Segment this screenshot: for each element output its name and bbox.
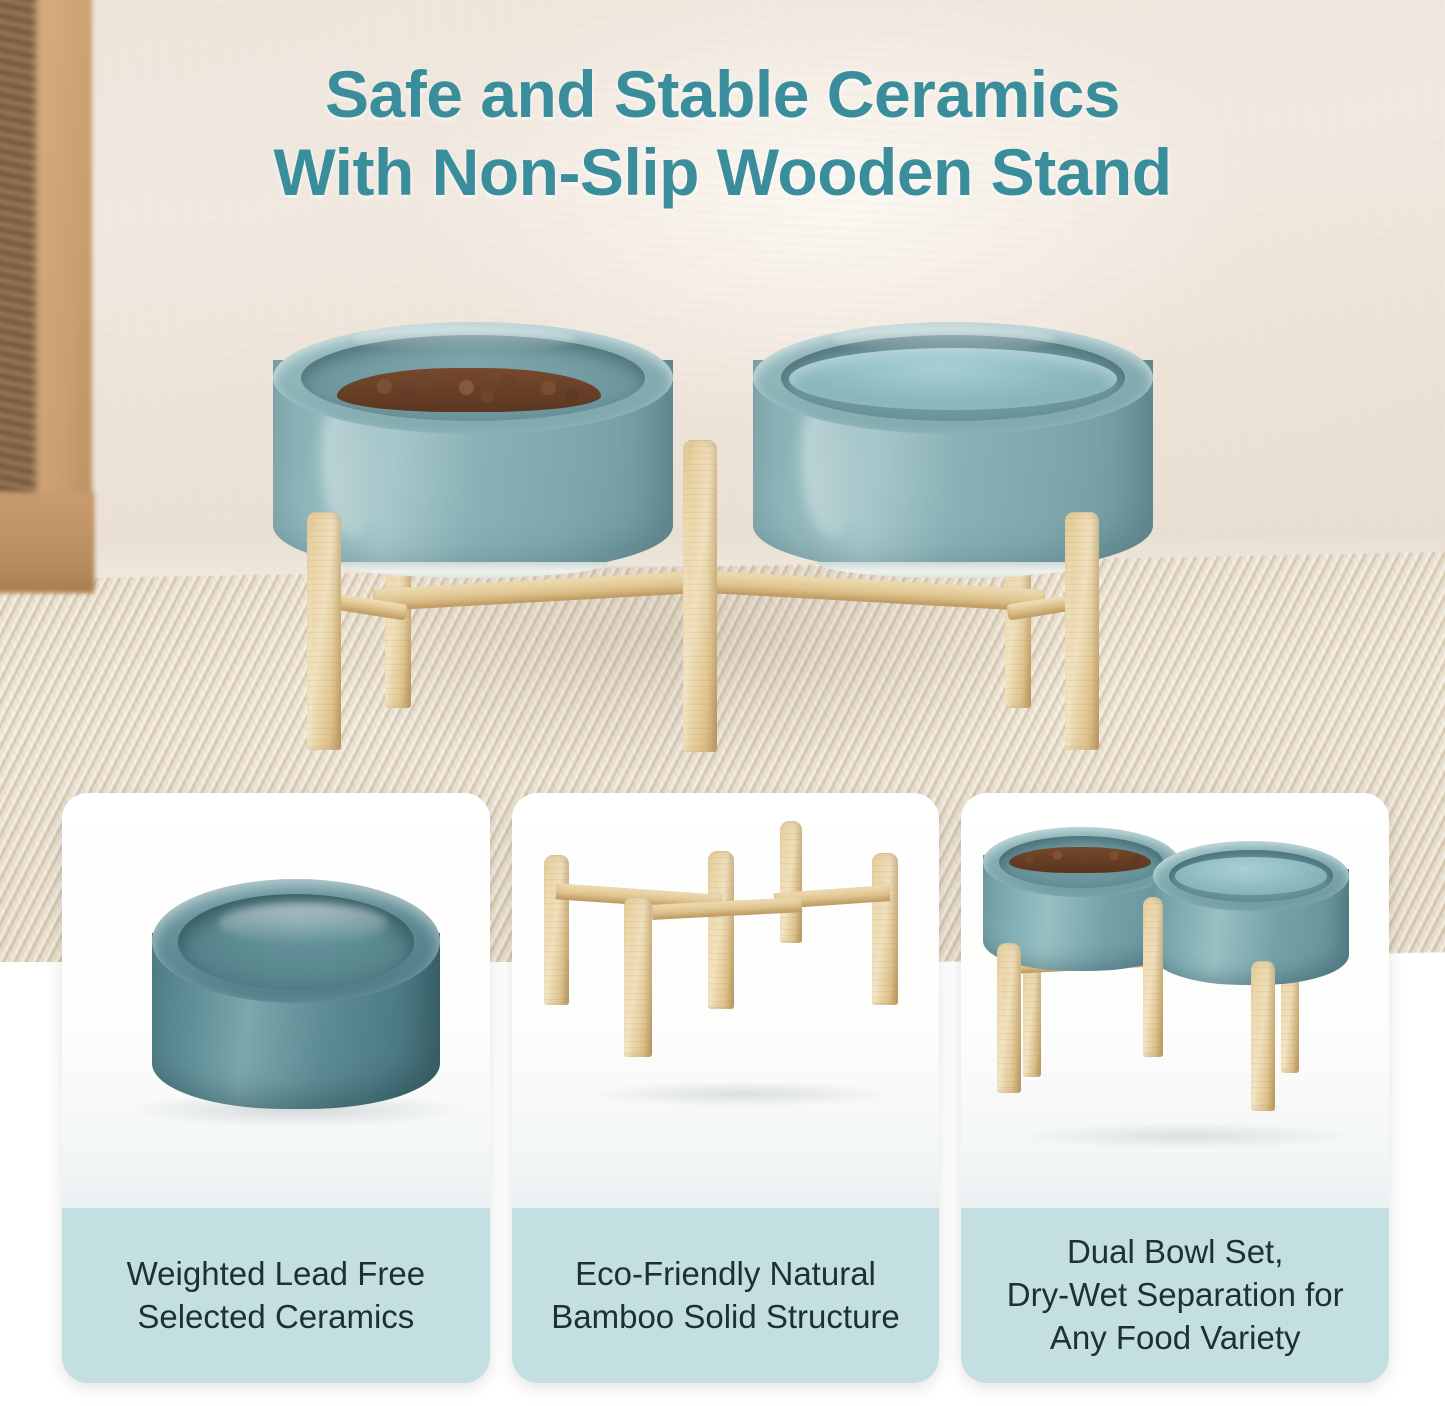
headline: Safe and Stable Ceramics With Non-Slip W… [0,56,1445,212]
bowl-water-foot [817,562,1089,578]
card3-water-surface [1175,857,1327,895]
card2-leg-front [624,897,652,1057]
card-ceramics-caption: Weighted Lead Free Selected Ceramics [62,1208,490,1383]
bowl-water-rim [753,322,1153,434]
card-bamboo-caption: Eco-Friendly Natural Bamboo Solid Struct… [512,1208,940,1383]
stand-drop-shadow [592,1081,892,1107]
card3-bowl-water-rim [1153,841,1349,911]
single-ceramic-bowl [152,879,440,1123]
dual-set-drop-shadow [1021,1123,1351,1149]
feature-card-bamboo[interactable]: Eco-Friendly Natural Bamboo Solid Struct… [512,793,940,1383]
bowl-food-foot [337,562,609,578]
kibble-pile [337,368,601,412]
card3-leg-back-left [1023,965,1041,1077]
dual-bowl-set-illustration [961,793,1389,1208]
card3-leg-front-right [1251,961,1275,1111]
feature-card-dual-bowl[interactable]: Dual Bowl Set, Dry-Wet Separation for An… [961,793,1389,1383]
stand-leg-front-left-overlay [307,512,341,750]
water-surface [789,348,1117,410]
hero-product [265,312,1165,772]
card3-leg-front-left [997,943,1021,1093]
product-infographic: Safe and Stable Ceramics With Non-Slip W… [0,0,1445,1406]
frame-base [0,492,94,592]
single-bowl-gloss [218,903,388,943]
stand-center-post-overlay [683,440,717,752]
card-ceramics-photo [62,793,490,1208]
bamboo-stand-illustration [512,793,940,1208]
card2-post-mid [708,851,734,1009]
card2-post-tall [780,821,802,943]
headline-line-2: With Non-Slip Wooden Stand [0,134,1445,212]
card3-kibble [1009,847,1151,873]
card2-leg-far-right [872,853,898,1005]
card3-bowl-food-rim [983,827,1179,897]
headline-line-1: Safe and Stable Ceramics [0,56,1445,134]
card3-center-post-overlay [1143,897,1163,1057]
bowl-water-gloss [833,326,1057,352]
card-dual-bowl-photo [961,793,1389,1208]
feature-card-row: Weighted Lead Free Selected Ceramics [62,793,1389,1383]
card-bamboo-photo [512,793,940,1208]
card2-leg-far-left [544,855,569,1005]
bowl-food-rim [273,322,673,434]
card-dual-bowl-caption: Dual Bowl Set, Dry-Wet Separation for An… [961,1208,1389,1383]
stand-leg-front-right-overlay [1065,512,1099,750]
feature-card-ceramics[interactable]: Weighted Lead Free Selected Ceramics [62,793,490,1383]
bowl-food-gloss [353,326,577,352]
